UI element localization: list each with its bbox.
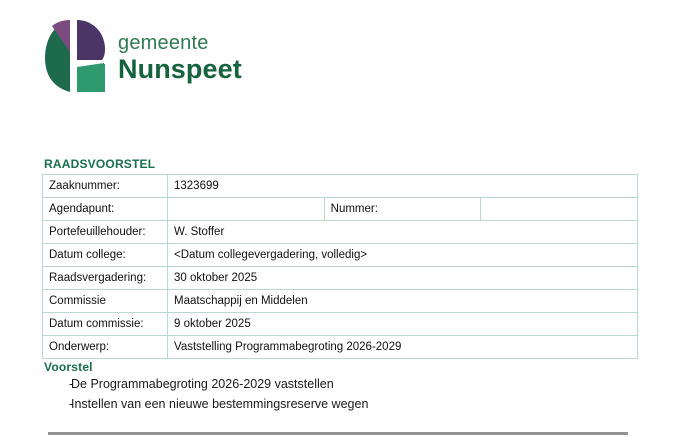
row-value-agendapunt bbox=[168, 198, 325, 221]
row-label-agendapunt: Agendapunt: bbox=[43, 198, 168, 221]
list-item: - Instellen van een nieuwe bestemmingsre… bbox=[44, 394, 604, 414]
table-row: Zaaknummer: 1323699 bbox=[43, 175, 638, 198]
row-label-zaaknummer: Zaaknummer: bbox=[43, 175, 168, 198]
row-value-nummer bbox=[481, 198, 638, 221]
section-heading-voorstel: Voorstel bbox=[44, 360, 93, 374]
table-row: Datum commissie: 9 oktober 2025 bbox=[43, 313, 638, 336]
list-marker-dash: - bbox=[44, 374, 71, 394]
row-label-nummer: Nummer: bbox=[324, 198, 481, 221]
table-row: Portefeuillehouder: W. Stoffer bbox=[43, 221, 638, 244]
list-item: - De Programmabegroting 2026-2029 vastst… bbox=[44, 374, 604, 394]
page-title: RAADSVOORSTEL bbox=[44, 157, 155, 171]
organization-logo: gemeente Nunspeet bbox=[44, 20, 242, 92]
row-label-datum-college: Datum college: bbox=[43, 244, 168, 267]
row-value-portefeuillehouder: W. Stoffer bbox=[168, 221, 638, 244]
row-value-raadsvergadering: 30 oktober 2025 bbox=[168, 267, 638, 290]
footer-divider bbox=[48, 432, 628, 435]
proposal-list: - De Programmabegroting 2026-2029 vastst… bbox=[44, 374, 604, 414]
list-item-text: De Programmabegroting 2026-2029 vaststel… bbox=[71, 374, 334, 394]
table-row: Agendapunt: Nummer: bbox=[43, 198, 638, 221]
gemeente-nunspeet-logo-mark bbox=[44, 20, 106, 92]
table-row: Onderwerp: Vaststelling Programmabegroti… bbox=[43, 336, 638, 359]
table-row: Datum college: <Datum collegevergadering… bbox=[43, 244, 638, 267]
row-label-onderwerp: Onderwerp: bbox=[43, 336, 168, 359]
row-value-commissie: Maatschappij en Middelen bbox=[168, 290, 638, 313]
logo-word-gemeente: gemeente bbox=[118, 33, 242, 53]
table-row: Raadsvergadering: 30 oktober 2025 bbox=[43, 267, 638, 290]
row-value-datum-commissie: 9 oktober 2025 bbox=[168, 313, 638, 336]
list-marker-dash: - bbox=[44, 394, 71, 414]
row-value-zaaknummer: 1323699 bbox=[168, 175, 638, 198]
logo-wordmark: gemeente Nunspeet bbox=[118, 29, 242, 83]
row-label-commissie: Commissie bbox=[43, 290, 168, 313]
row-label-datum-commissie: Datum commissie: bbox=[43, 313, 168, 336]
row-label-raadsvergadering: Raadsvergadering: bbox=[43, 267, 168, 290]
row-value-datum-college: <Datum collegevergadering, volledig> bbox=[168, 244, 638, 267]
logo-word-nunspeet: Nunspeet bbox=[118, 56, 242, 83]
table-row: Commissie Maatschappij en Middelen bbox=[43, 290, 638, 313]
metadata-table: Zaaknummer: 1323699 Agendapunt: Nummer: … bbox=[42, 174, 638, 359]
row-label-portefeuillehouder: Portefeuillehouder: bbox=[43, 221, 168, 244]
row-value-onderwerp: Vaststelling Programmabegroting 2026-202… bbox=[168, 336, 638, 359]
list-item-text: Instellen van een nieuwe bestemmingsrese… bbox=[71, 394, 368, 414]
